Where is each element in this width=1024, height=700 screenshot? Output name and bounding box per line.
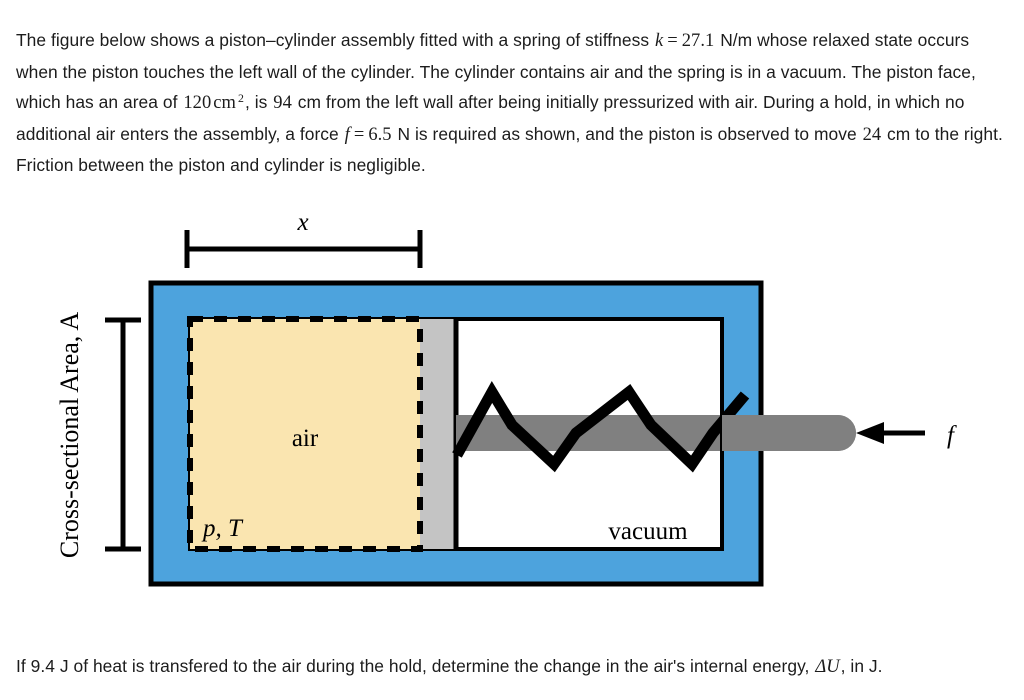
rod-end-cap bbox=[820, 415, 856, 451]
force-value: 6.5 bbox=[367, 125, 392, 145]
area-exponent: 2 bbox=[237, 91, 245, 105]
displacement-value: 24 bbox=[862, 125, 883, 145]
pressure-temperature-label: p, T bbox=[201, 515, 244, 542]
equals-sign-2: = bbox=[351, 125, 367, 145]
intro-segment-5: is required as shown, and the piston is … bbox=[410, 124, 861, 144]
delta-internal-energy-symbol: ΔU bbox=[814, 657, 840, 677]
force-symbol: f bbox=[344, 125, 351, 145]
force-unit: N bbox=[393, 124, 411, 144]
question-statement: If 9.4 J of heat is transfered to the ai… bbox=[16, 651, 1016, 683]
distance-unit: cm bbox=[293, 92, 321, 112]
intro-segment-3: , is bbox=[245, 92, 272, 112]
dimension-area bbox=[105, 320, 141, 549]
distance-value: 94 bbox=[272, 93, 293, 113]
area-unit: cm bbox=[212, 93, 237, 113]
air-label: air bbox=[292, 425, 319, 452]
question-segment-1: If 9.4 J of heat is transfered to the ai… bbox=[16, 656, 814, 676]
dimension-x: x bbox=[187, 209, 420, 268]
piston-block bbox=[420, 319, 456, 549]
vacuum-label: vacuum bbox=[608, 518, 688, 545]
area-value: 120 bbox=[182, 93, 212, 113]
question-segment-2: , in J. bbox=[841, 656, 883, 676]
piston-cylinder-figure: x Cross-sectional Area, A bbox=[0, 196, 1024, 616]
problem-page: The figure below shows a piston–cylinder… bbox=[0, 0, 1024, 700]
intro-segment-1: The figure below shows a piston–cylinder… bbox=[16, 30, 654, 50]
stiffness-unit: N/m bbox=[715, 30, 752, 50]
cross-sectional-area-label: Cross-sectional Area, A bbox=[55, 312, 84, 558]
force-arrow-label: f bbox=[947, 422, 957, 449]
equals-sign-1: = bbox=[664, 31, 680, 51]
force-arrow bbox=[856, 422, 925, 444]
problem-statement: The figure below shows a piston–cylinder… bbox=[16, 25, 1008, 181]
stiffness-value: 27.1 bbox=[681, 31, 716, 51]
displacement-unit: cm bbox=[882, 124, 910, 144]
stiffness-symbol: k bbox=[654, 31, 664, 51]
dimension-x-label: x bbox=[296, 209, 308, 236]
